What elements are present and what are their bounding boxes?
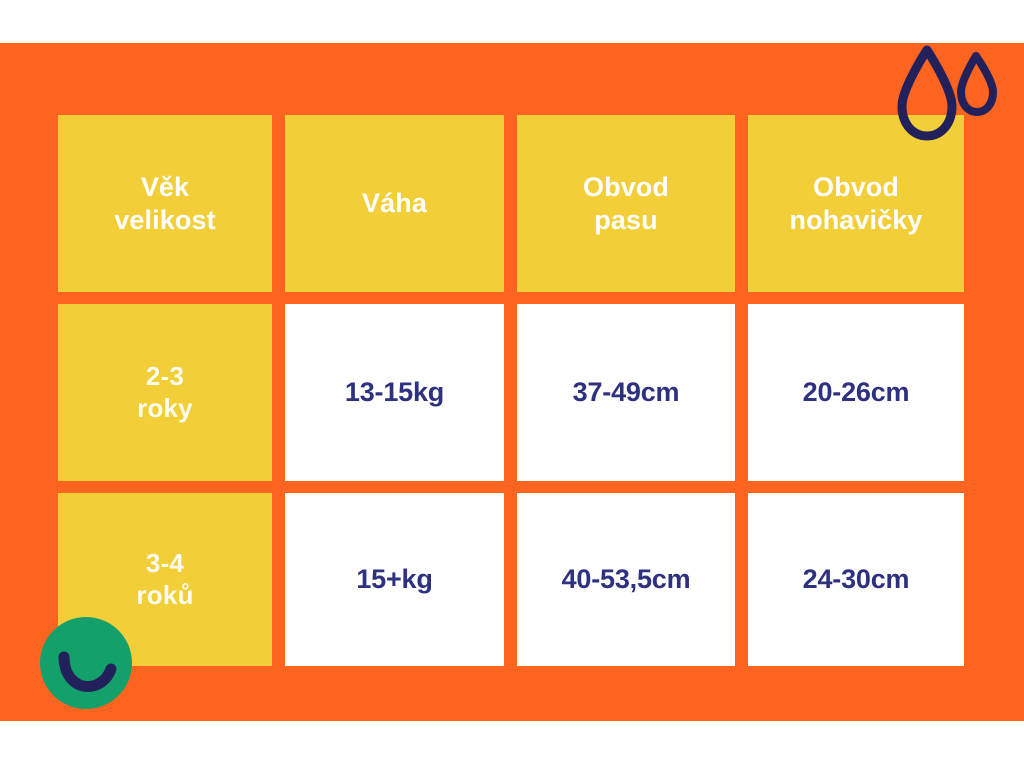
table-row: 20-26cm <box>748 304 964 481</box>
row-0-leg-value: 20-26cm <box>803 376 910 409</box>
row-0-weight-value: 13-15kg <box>345 376 444 409</box>
table-header-age-size: Věk velikost <box>58 115 272 292</box>
row-1-weight-value: 15+kg <box>356 563 432 596</box>
row-1-age-value: 3-4 roků <box>136 548 193 611</box>
table-header-weight: Váha <box>285 115 504 292</box>
table-row: 37-49cm <box>517 304 735 481</box>
table-header-leg: Obvod nohavičky <box>748 115 964 292</box>
row-0-age-value: 2-3 roky <box>137 361 193 424</box>
row-0-waist-value: 37-49cm <box>573 376 680 409</box>
size-chart-table: Věk velikost Váha Obvod pasu Obvod nohav… <box>58 115 963 663</box>
table-header-waist: Obvod pasu <box>517 115 735 292</box>
table-row: 40-53,5cm <box>517 493 735 666</box>
table-header-age-size-label: Věk velikost <box>114 171 215 237</box>
table-row: 2-3 roky <box>58 304 272 481</box>
table-header-weight-label: Váha <box>362 187 427 220</box>
table-row: 3-4 roků <box>58 493 272 666</box>
table-header-waist-label: Obvod pasu <box>583 171 669 237</box>
table-row: 24-30cm <box>748 493 964 666</box>
row-1-waist-value: 40-53,5cm <box>562 563 691 596</box>
table-row: 15+kg <box>285 493 504 666</box>
table-header-leg-label: Obvod nohavičky <box>790 171 923 237</box>
table-row: 13-15kg <box>285 304 504 481</box>
row-1-leg-value: 24-30cm <box>803 563 910 596</box>
poster-canvas: Věk velikost Váha Obvod pasu Obvod nohav… <box>0 0 1024 768</box>
